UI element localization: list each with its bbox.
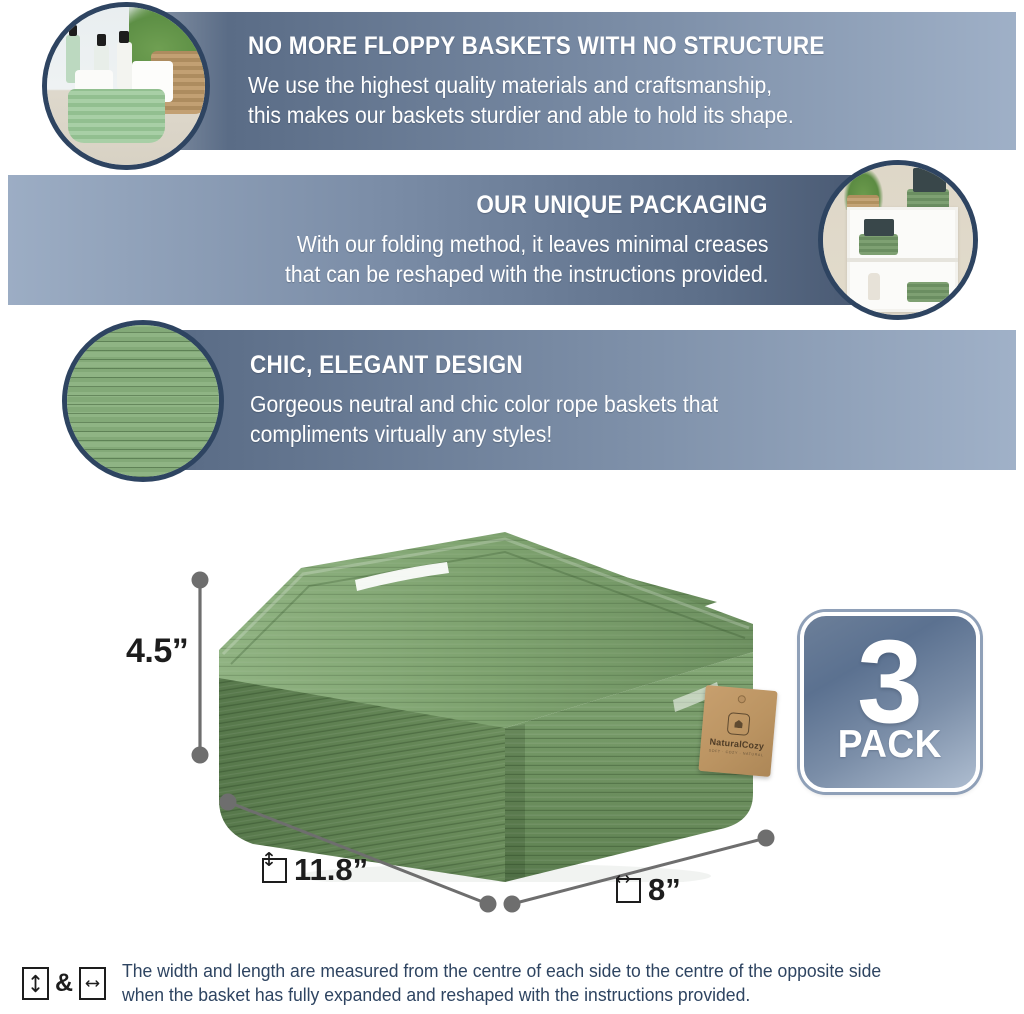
vase-white bbox=[868, 273, 880, 300]
feature-body-line: Gorgeous neutral and chic color rope bas… bbox=[250, 390, 718, 419]
feature-body-line: this makes our baskets sturdier and able… bbox=[248, 101, 794, 130]
feature-title-packaging: OUR UNIQUE PACKAGING bbox=[477, 191, 768, 220]
width-endpoint-inner bbox=[480, 896, 497, 913]
height-dimension-label: 4.5” bbox=[126, 632, 188, 671]
feature-banner-packaging: OUR UNIQUE PACKAGING With our folding me… bbox=[8, 175, 888, 305]
feature-body-line: compliments virtually any styles! bbox=[250, 420, 718, 449]
feature-banner-structure: NO MORE FLOPPY BASKETS WITH NO STRUCTURE… bbox=[100, 12, 1016, 150]
feature-body-line: that can be reshaped with the instructio… bbox=[285, 260, 768, 289]
shelf-divider bbox=[847, 258, 958, 262]
shelf-basket-mid bbox=[859, 234, 898, 255]
basket-illustration bbox=[205, 532, 765, 882]
shelf-basket-bottom bbox=[907, 282, 949, 302]
ampersand-separator: & bbox=[55, 969, 73, 998]
bottle-clear bbox=[117, 42, 133, 89]
horizontal-arrow-icon bbox=[79, 967, 106, 1000]
pack-count-badge: 3 PACK bbox=[800, 612, 980, 792]
feature-body-structure: We use the highest quality materials and… bbox=[248, 71, 794, 130]
depth-endpoint-inner bbox=[504, 896, 521, 913]
feature-title-structure: NO MORE FLOPPY BASKETS WITH NO STRUCTURE bbox=[248, 32, 825, 61]
feature-body-design: Gorgeous neutral and chic color rope bas… bbox=[250, 390, 718, 449]
disclaimer-line: when the basket has fully expanded and r… bbox=[122, 983, 881, 1007]
magazines bbox=[864, 219, 894, 236]
feature-title-design: CHIC, ELEGANT DESIGN bbox=[250, 351, 523, 380]
feature-body-line: We use the highest quality materials and… bbox=[248, 71, 794, 100]
disclaimer-icons: & bbox=[22, 967, 106, 1000]
green-rope-storage-basket bbox=[205, 532, 765, 882]
rope-texture-photo bbox=[62, 320, 224, 482]
pack-count-number: 3 bbox=[857, 634, 923, 731]
chalkboard-art bbox=[913, 168, 946, 192]
disclaimer-line: The width and length are measured from t… bbox=[122, 959, 881, 983]
house-heart-icon bbox=[727, 712, 751, 736]
bathroom-basket-photo bbox=[42, 2, 210, 170]
measurement-disclaimer: & The width and length are measured from… bbox=[0, 952, 1024, 1014]
feature-body-line: With our folding method, it leaves minim… bbox=[285, 230, 768, 259]
pack-count-label: PACK bbox=[838, 725, 942, 764]
disclaimer-text: The width and length are measured from t… bbox=[122, 959, 881, 1008]
infographic-page: NO MORE FLOPPY BASKETS WITH NO STRUCTURE… bbox=[0, 0, 1024, 1014]
shelf-baskets-photo bbox=[818, 160, 978, 320]
shelf-scene bbox=[823, 165, 973, 315]
green-rope-basket bbox=[68, 89, 166, 143]
feature-body-packaging: With our folding method, it leaves minim… bbox=[285, 230, 768, 289]
vertical-arrow-icon bbox=[22, 967, 49, 1000]
bathroom-scene bbox=[47, 7, 205, 165]
product-hang-tag: NaturalCozy SOFT · COZY · NATURAL bbox=[698, 685, 777, 777]
feature-banner-design: CHIC, ELEGANT DESIGN Gorgeous neutral an… bbox=[108, 330, 1016, 470]
green-rope-closeup bbox=[67, 325, 219, 477]
